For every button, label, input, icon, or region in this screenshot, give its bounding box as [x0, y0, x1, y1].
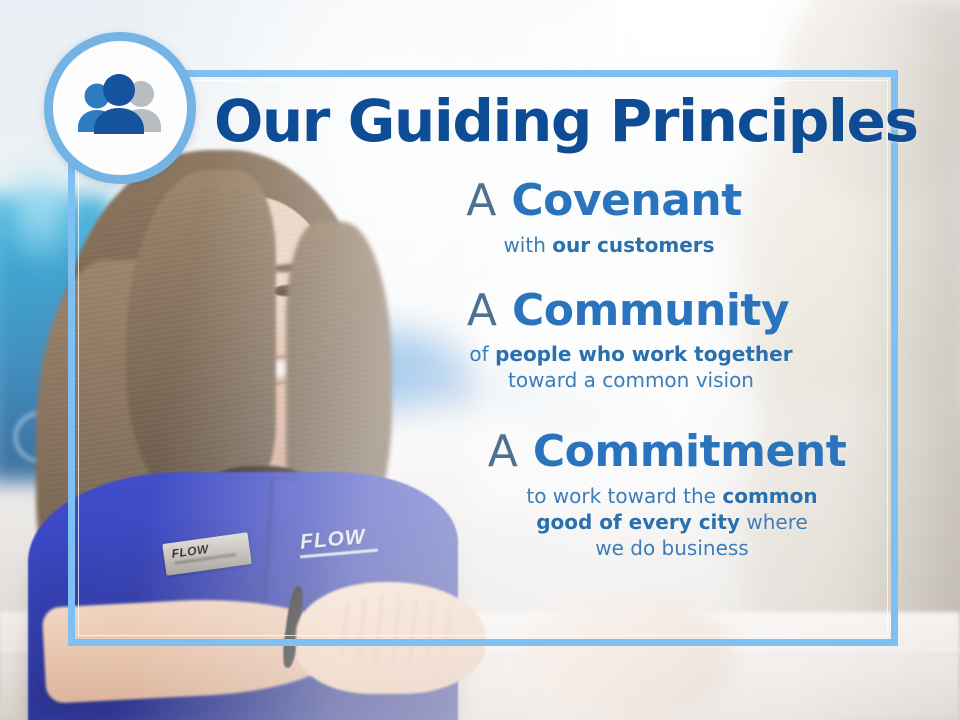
principle-community-article: A [467, 285, 512, 336]
employee-fingers [330, 596, 460, 662]
principle-commitment-subtext: to work toward the commongood of every c… [454, 483, 890, 561]
principle-community-heading: A Community [366, 288, 890, 335]
principle-community-sub-segment: people who work together [495, 342, 793, 366]
principle-covenant: A Covenant with our customers [318, 178, 890, 258]
principle-commitment-article: A [488, 426, 533, 477]
principle-covenant-article: A [466, 175, 511, 226]
principle-covenant-word: Covenant [511, 175, 741, 226]
principle-commitment-sub-segment: good of every city [536, 510, 740, 534]
principle-covenant-subtext: with our customers [328, 232, 890, 258]
principle-covenant-sub-segment: our customers [552, 233, 714, 257]
principle-commitment-heading: A Commitment [444, 429, 890, 476]
principle-community-subline: toward a common vision [372, 367, 890, 393]
blurred-customer-hand [520, 600, 730, 720]
principle-covenant-heading: A Covenant [318, 178, 890, 225]
principle-community-sub-segment: of [469, 342, 495, 366]
principle-commitment-word: Commitment [533, 426, 846, 477]
principle-community-sub-segment: toward a common vision [508, 368, 754, 392]
principle-covenant-sub-segment: with [503, 233, 552, 257]
page-title: Our Guiding Principles [214, 92, 914, 150]
principle-commitment-subline: we do business [454, 535, 890, 561]
principle-community-subline: of people who work together [372, 341, 890, 367]
principle-commitment-sub-segment: we do business [595, 536, 748, 560]
principle-commitment: A Commitment to work toward the commongo… [444, 429, 890, 561]
principle-community: A Community of people who work togethert… [366, 288, 890, 394]
principle-community-word: Community [512, 285, 789, 336]
people-group-badge [44, 32, 196, 184]
principle-covenant-subline: with our customers [328, 232, 890, 258]
principle-commitment-sub-segment: common [722, 484, 817, 508]
principle-commitment-sub-segment: to work toward the [526, 484, 722, 508]
principle-commitment-subline: good of every city where [454, 509, 890, 535]
principle-commitment-sub-segment: where [740, 510, 808, 534]
principles-list: A Covenant with our customers A Communit… [200, 176, 890, 565]
guiding-principles-poster: FLOW FLOW [0, 0, 960, 720]
principle-commitment-subline: to work toward the common [454, 483, 890, 509]
principle-community-subtext: of people who work togethertoward a comm… [372, 341, 890, 393]
people-group-icon [72, 72, 168, 144]
